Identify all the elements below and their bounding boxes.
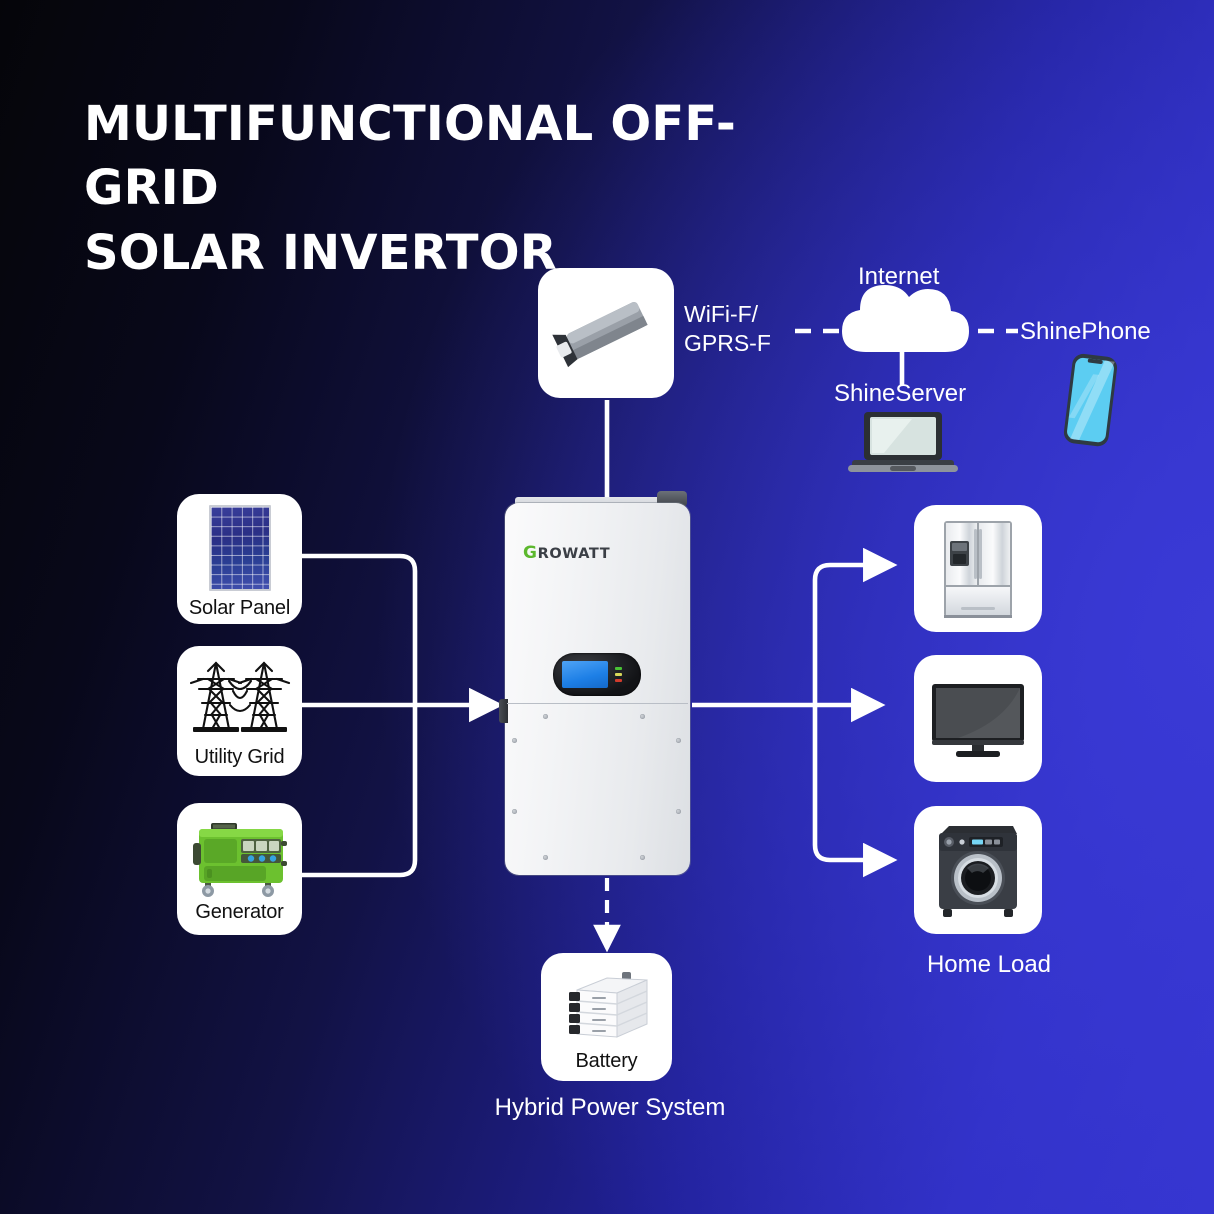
screw (512, 738, 517, 743)
screw (676, 738, 681, 743)
refrigerator-card[interactable] (914, 505, 1042, 632)
battery-card[interactable]: Battery (541, 953, 672, 1081)
screw (676, 809, 681, 814)
lcd-display[interactable] (553, 653, 641, 696)
television-card[interactable] (914, 655, 1042, 782)
solar-panel-label: Solar Panel (189, 598, 290, 618)
refrigerator-icon (939, 519, 1017, 619)
wifi-dongle-card[interactable] (538, 268, 674, 398)
led-red (615, 679, 622, 682)
page-title: MULTIFUNCTIONAL OFF-GRID SOLAR INVERTOR (84, 92, 844, 285)
inverter-panel-seam (507, 703, 688, 704)
status-leds (615, 667, 622, 682)
growatt-logo: GROWATT (523, 543, 610, 563)
television-icon (928, 678, 1028, 760)
led-green (615, 667, 622, 670)
internet-label: Internet (858, 262, 939, 293)
logo-rest: ROWATT (538, 546, 611, 562)
solar-panel-card[interactable]: Solar Panel (177, 494, 302, 624)
washing-machine-icon (933, 822, 1023, 918)
generator-label: Generator (195, 902, 283, 922)
shinephone-label: ShinePhone (1020, 317, 1151, 348)
washing-machine-card[interactable] (914, 806, 1042, 934)
wifi-dongle-icon (551, 287, 661, 379)
utility-grid-label: Utility Grid (195, 747, 285, 767)
home-load-caption: Home Load (909, 950, 1069, 981)
solar-inverter[interactable]: GROWATT (505, 503, 690, 875)
title-line-2: SOLAR INVERTOR (84, 221, 844, 285)
transmission-tower-icon (186, 657, 294, 743)
lcd-screen (562, 661, 608, 688)
led-yellow (615, 673, 622, 676)
screw (543, 714, 548, 719)
dongle-label: WiFi-F/ GPRS-F (684, 300, 771, 359)
diagram-canvas: MULTIFUNCTIONAL OFF-GRID SOLAR INVERTOR … (0, 0, 1214, 1214)
shineserver-label: ShineServer (834, 379, 966, 410)
hybrid-power-system-caption: Hybrid Power System (470, 1093, 750, 1124)
screw (640, 714, 645, 719)
battery-stack-icon (555, 968, 659, 1046)
screw (640, 855, 645, 860)
screw (543, 855, 548, 860)
title-line-1: MULTIFUNCTIONAL OFF-GRID (84, 96, 736, 216)
generator-card[interactable]: Generator (177, 803, 302, 935)
solar-panel-icon (209, 505, 271, 591)
battery-label: Battery (576, 1051, 638, 1071)
logo-initial: G (523, 543, 538, 563)
utility-grid-card[interactable]: Utility Grid (177, 646, 302, 776)
screw (512, 809, 517, 814)
generator-icon (185, 819, 295, 899)
